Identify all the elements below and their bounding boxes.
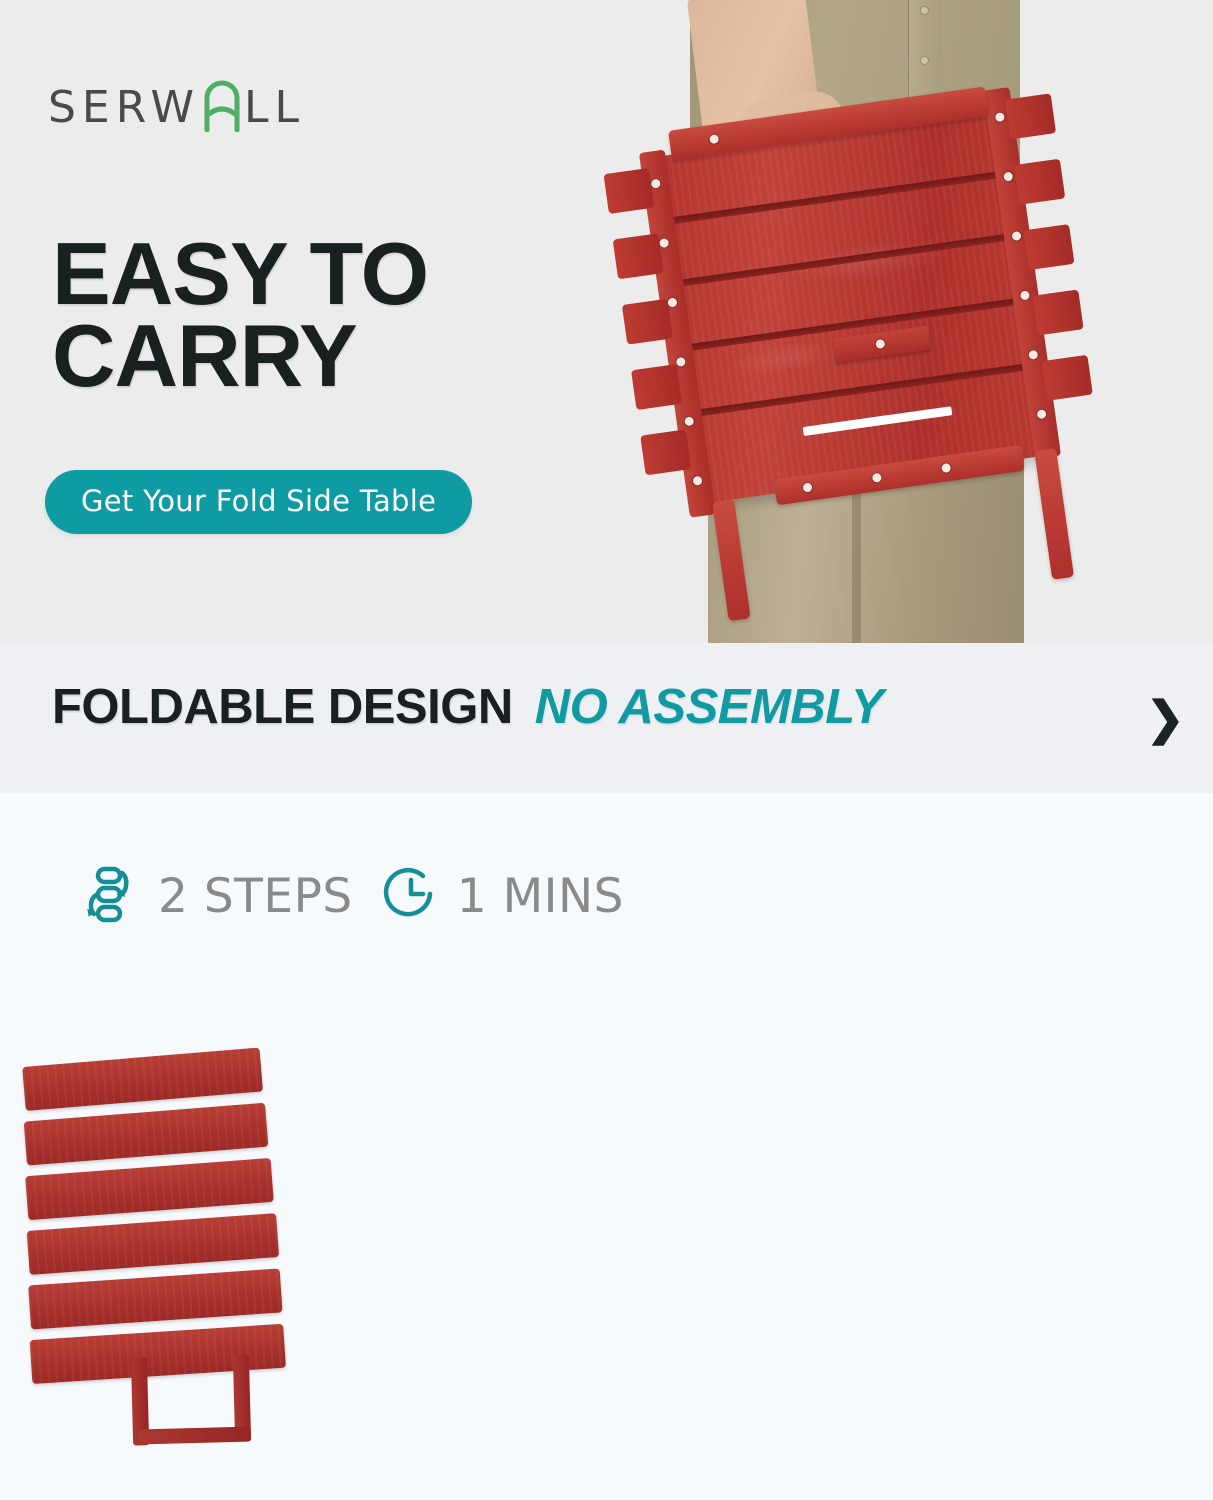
chevron-right-icon[interactable]: ❯ xyxy=(1146,695,1185,741)
marketing-infographic: SERW LL EASY TO CARRY Get Your Fold Side… xyxy=(0,0,1213,1500)
clock-icon xyxy=(383,866,439,927)
cta-button[interactable]: Get Your Fold Side Table xyxy=(45,470,472,534)
time-label: 1 MINS xyxy=(457,869,624,924)
no-assembly-text: NO ASSEMBLY xyxy=(535,679,883,735)
stats-row: 2 STEPS 1 MINS xyxy=(78,863,624,930)
table-top-slab xyxy=(656,110,1041,504)
band-heading: FOLDABLE DESIGN NO ASSEMBLY xyxy=(52,679,883,735)
headline-line-2: CARRY xyxy=(52,315,428,397)
folded-table-carried xyxy=(592,61,1097,549)
stat-steps: 2 STEPS xyxy=(78,863,353,930)
logo-text-left: SERW xyxy=(48,86,200,130)
foldable-design-band: FOLDABLE DESIGN NO ASSEMBLY ❯ xyxy=(0,643,1213,793)
folded-leg-frame xyxy=(131,1355,251,1446)
page-title: EASY TO CARRY xyxy=(52,233,428,397)
steps-band: 2 STEPS 1 MINS xyxy=(0,793,1213,1500)
steps-flow-icon xyxy=(78,863,140,930)
steps-count-label: 2 STEPS xyxy=(158,869,353,924)
brand-logo: SERW LL xyxy=(48,74,305,130)
hero-band: SERW LL EASY TO CARRY Get Your Fold Side… xyxy=(0,0,1213,643)
foldable-design-text: FOLDABLE DESIGN xyxy=(52,679,513,735)
folded-table-illustration xyxy=(23,1054,283,1440)
logo-arch-a-icon xyxy=(202,78,242,130)
logo-text-right: LL xyxy=(244,86,305,130)
hero-product-photo xyxy=(590,0,1213,643)
stat-time: 1 MINS xyxy=(383,866,624,927)
